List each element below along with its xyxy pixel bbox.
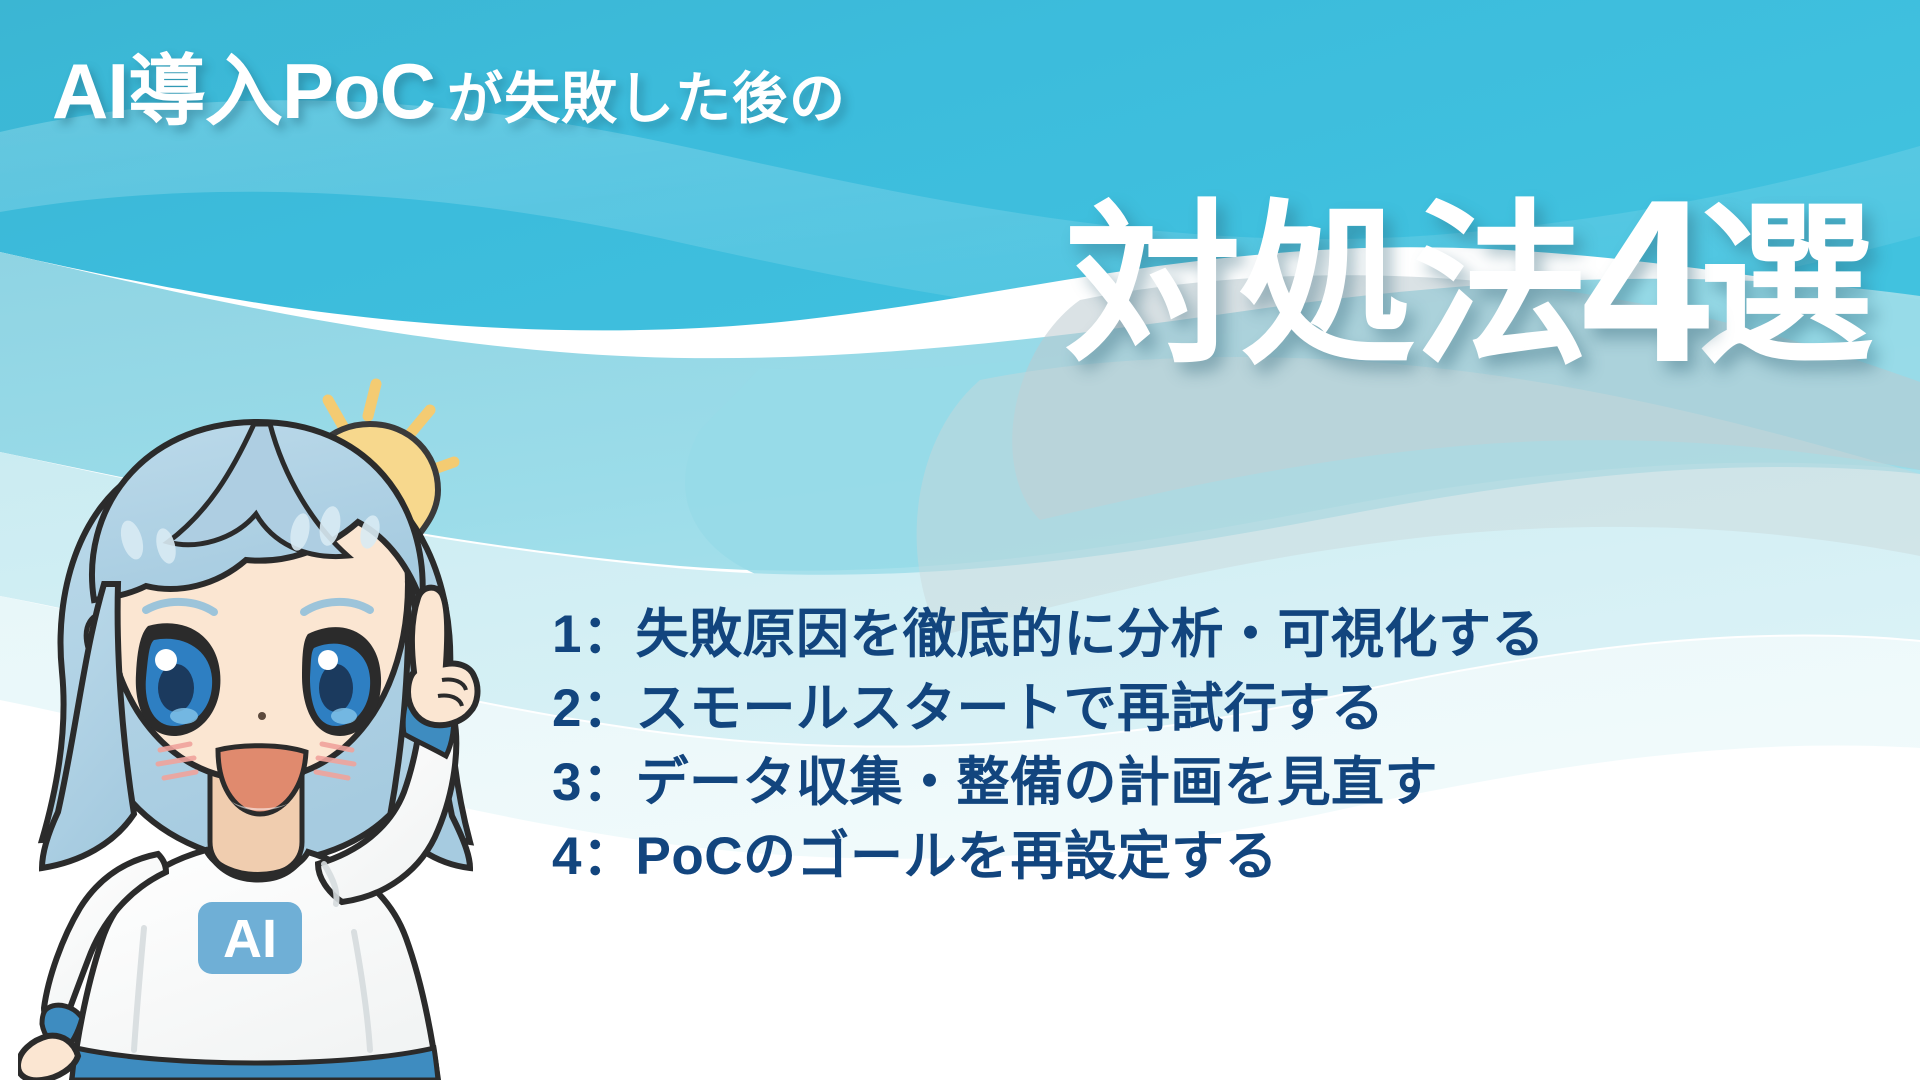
eyebrow-strong-text: AI導入PoC xyxy=(52,52,435,130)
main-headline: 対処法 4 選 xyxy=(1065,178,1872,375)
slide-canvas: AI導入PoC が失敗した後の 対処法 4 選 1：失敗原因を徹底的に分析・可視… xyxy=(0,0,1920,1080)
eye-right xyxy=(302,627,381,736)
eyebrow-title: AI導入PoC が失敗した後の xyxy=(52,52,846,130)
headline-number: 4 xyxy=(1581,192,1704,373)
hand-left xyxy=(18,1036,78,1080)
pointing-hand xyxy=(408,588,477,726)
nose xyxy=(258,712,266,720)
ai-mascot-illustration: AI xyxy=(18,372,518,1080)
list-item: 3：データ収集・整備の計画を見直す xyxy=(552,748,1545,818)
list-item: 1：失敗原因を徹底的に分析・可視化する xyxy=(552,600,1545,670)
headline-tail-text: 選 xyxy=(1698,199,1872,375)
headline-main-text: 対処法 xyxy=(1065,199,1587,375)
list-item: 2：スモールスタートで再試行する xyxy=(552,674,1545,744)
shirt-badge-text: AI xyxy=(223,909,277,969)
shirt-ai-badge: AI xyxy=(198,902,302,974)
points-list: 1：失敗原因を徹底的に分析・可視化する 2：スモールスタートで再試行する 3：デ… xyxy=(552,600,1545,892)
eyebrow-light-text: が失敗した後の xyxy=(447,71,846,127)
list-item: 4：PoCのゴールを再設定する xyxy=(552,822,1545,892)
